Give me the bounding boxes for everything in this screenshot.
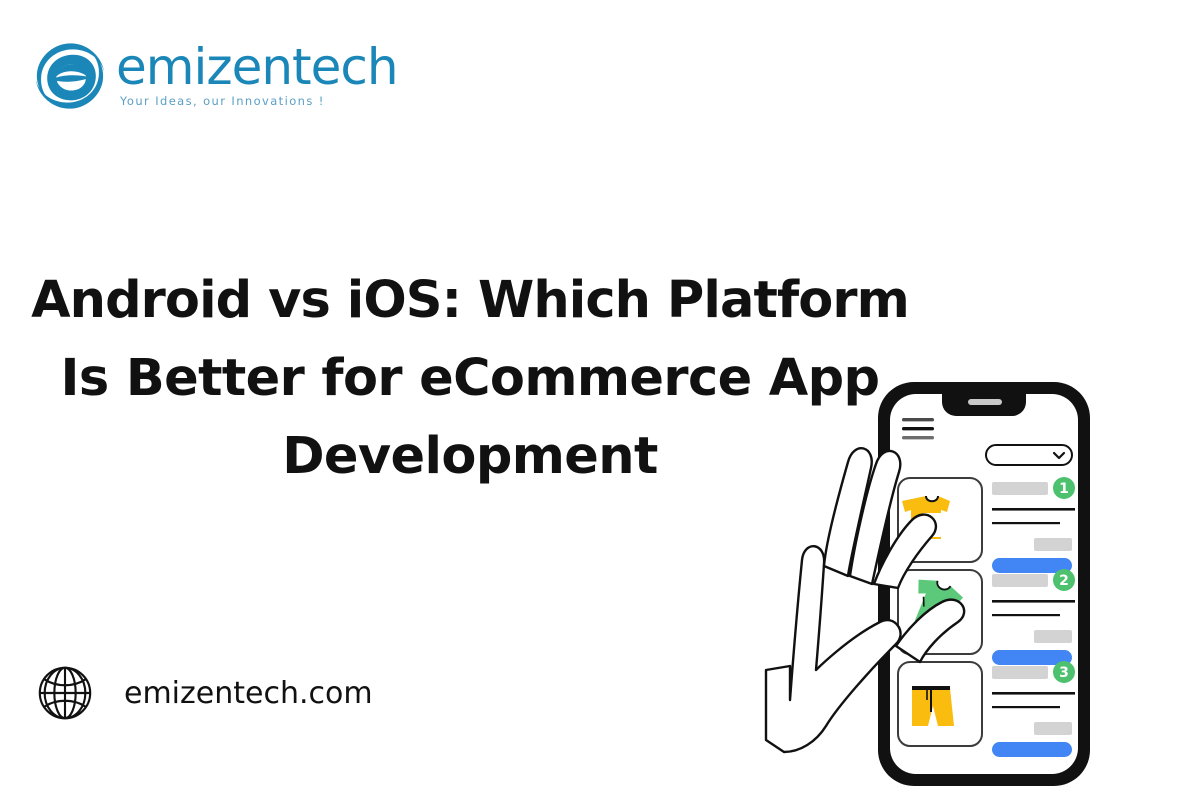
badge-3: 3 xyxy=(1059,665,1069,681)
brand-logo[interactable]: emizentech Your Ideas, our Innovations ! xyxy=(32,38,398,114)
badge-1: 1 xyxy=(1059,481,1069,497)
badge-2: 2 xyxy=(1059,573,1069,589)
globe-icon xyxy=(34,662,96,724)
hamburger-menu-icon xyxy=(902,418,934,439)
phone-device: 1 2 xyxy=(878,382,1090,786)
emizentech-logo-icon xyxy=(32,38,108,114)
hand-shopping-on-phone-illustration: 1 2 xyxy=(730,370,1130,800)
sort-dropdown xyxy=(986,445,1072,465)
site-url[interactable]: emizentech.com xyxy=(124,676,373,711)
page-title-line-1: Android vs iOS: Which Platform xyxy=(30,262,910,340)
brand-wordmark: emizentech xyxy=(116,42,398,92)
site-footer[interactable]: emizentech.com xyxy=(34,662,373,724)
brand-tagline: Your Ideas, our Innovations ! xyxy=(120,94,398,108)
brand-text-block: emizentech Your Ideas, our Innovations ! xyxy=(116,38,398,108)
